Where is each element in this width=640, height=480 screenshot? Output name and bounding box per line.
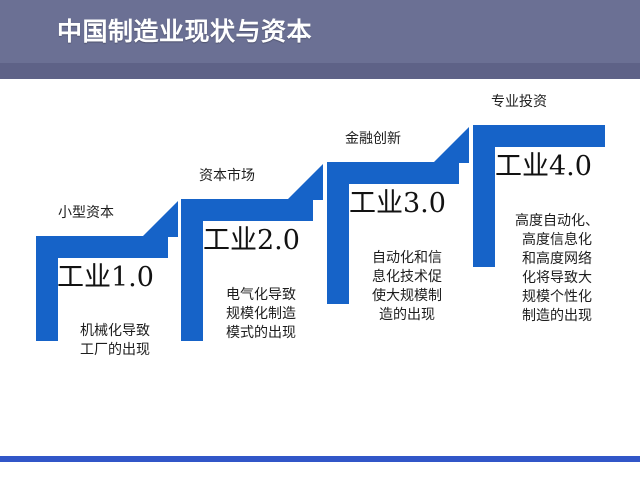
slide-canvas: 中国制造业现状与资本 小型资本 工业1.0 机械化导致 工厂的出现 资本市场 工… bbox=[0, 0, 640, 480]
step-1-description: 机械化导致 工厂的出现 bbox=[60, 322, 170, 360]
header-band-accent bbox=[0, 63, 640, 79]
page-title: 中国制造业现状与资本 bbox=[57, 16, 312, 48]
step-2-description: 电气化导致 规模化制造 模式的出现 bbox=[206, 286, 316, 343]
step-2-capital-label: 资本市场 bbox=[199, 167, 255, 185]
step-4-stage-label: 工业4.0 bbox=[495, 151, 592, 183]
step-4-capital-label: 专业投资 bbox=[491, 93, 547, 111]
step-3-arrow-icon bbox=[433, 127, 469, 163]
step-3-capital-label: 金融创新 bbox=[345, 130, 401, 148]
step-2-arrow-icon bbox=[287, 164, 323, 200]
step-2-riser bbox=[181, 199, 203, 341]
watermark bbox=[502, 446, 632, 468]
step-3-stage-label: 工业3.0 bbox=[349, 188, 446, 220]
step-1-capital-label: 小型资本 bbox=[58, 204, 114, 222]
step-1-stage-label: 工业1.0 bbox=[57, 262, 154, 294]
step-1-arrow-icon bbox=[142, 201, 178, 237]
step-1-riser bbox=[36, 236, 58, 341]
staircase-diagram: 小型资本 工业1.0 机械化导致 工厂的出现 资本市场 工业2.0 电气化导致 … bbox=[0, 79, 640, 480]
step-4-description: 高度自动化、 高度信息化 和高度网络 化将导致大 规模个性化 制造的出现 bbox=[498, 212, 616, 326]
step-3-riser bbox=[327, 162, 349, 304]
step-3-description: 自动化和信 息化技术促 使大规模制 造的出现 bbox=[352, 249, 462, 325]
step-2-stage-label: 工业2.0 bbox=[203, 225, 300, 257]
step-4-riser bbox=[473, 125, 495, 267]
